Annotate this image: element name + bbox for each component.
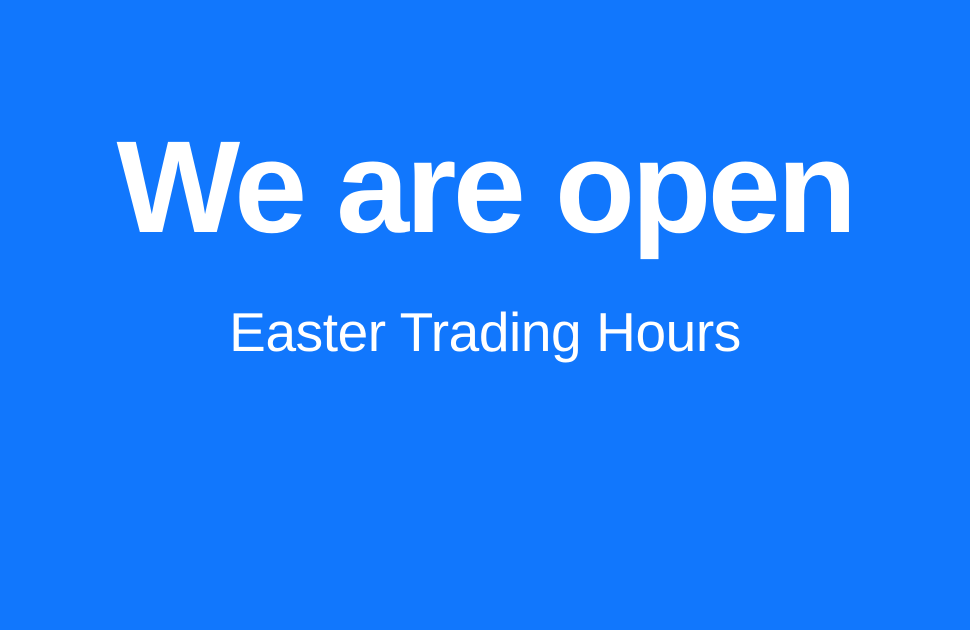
subheadline: Easter Trading Hours [229,256,741,363]
promo-banner: We are open Easter Trading Hours [0,0,970,630]
headline: We are open [117,118,854,256]
banner-content: We are open Easter Trading Hours [0,0,970,362]
